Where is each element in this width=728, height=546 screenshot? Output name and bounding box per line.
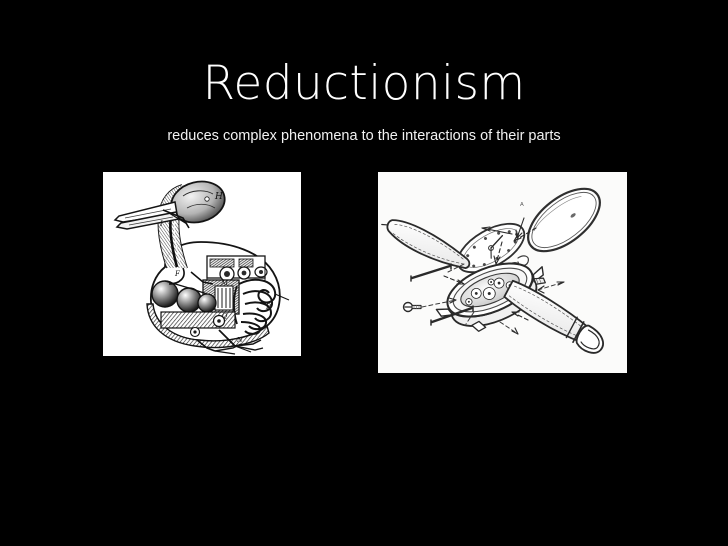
duck-label-m: M (220, 279, 229, 287)
duck-label-p: P (265, 303, 271, 311)
mechanical-duck-illustration: H I M F (103, 172, 301, 356)
watch-part-mark-a: A (520, 202, 524, 208)
wristwatch-exploded-illustration: A (378, 172, 627, 373)
duck-label-i: I (159, 220, 163, 228)
figure-watch-exploded: A (378, 172, 627, 373)
duck-label-h: H (214, 192, 223, 202)
duck-label-n: N (236, 336, 243, 344)
slide-subtitle: reduces complex phenomena to the interac… (0, 127, 728, 145)
duck-label-q: Q (222, 312, 228, 320)
slide-canvas: Reductionism reduces complex phenomena t… (0, 0, 728, 546)
figure-mechanical-duck: H I M F (103, 172, 301, 356)
page-title: Reductionism (0, 58, 728, 110)
